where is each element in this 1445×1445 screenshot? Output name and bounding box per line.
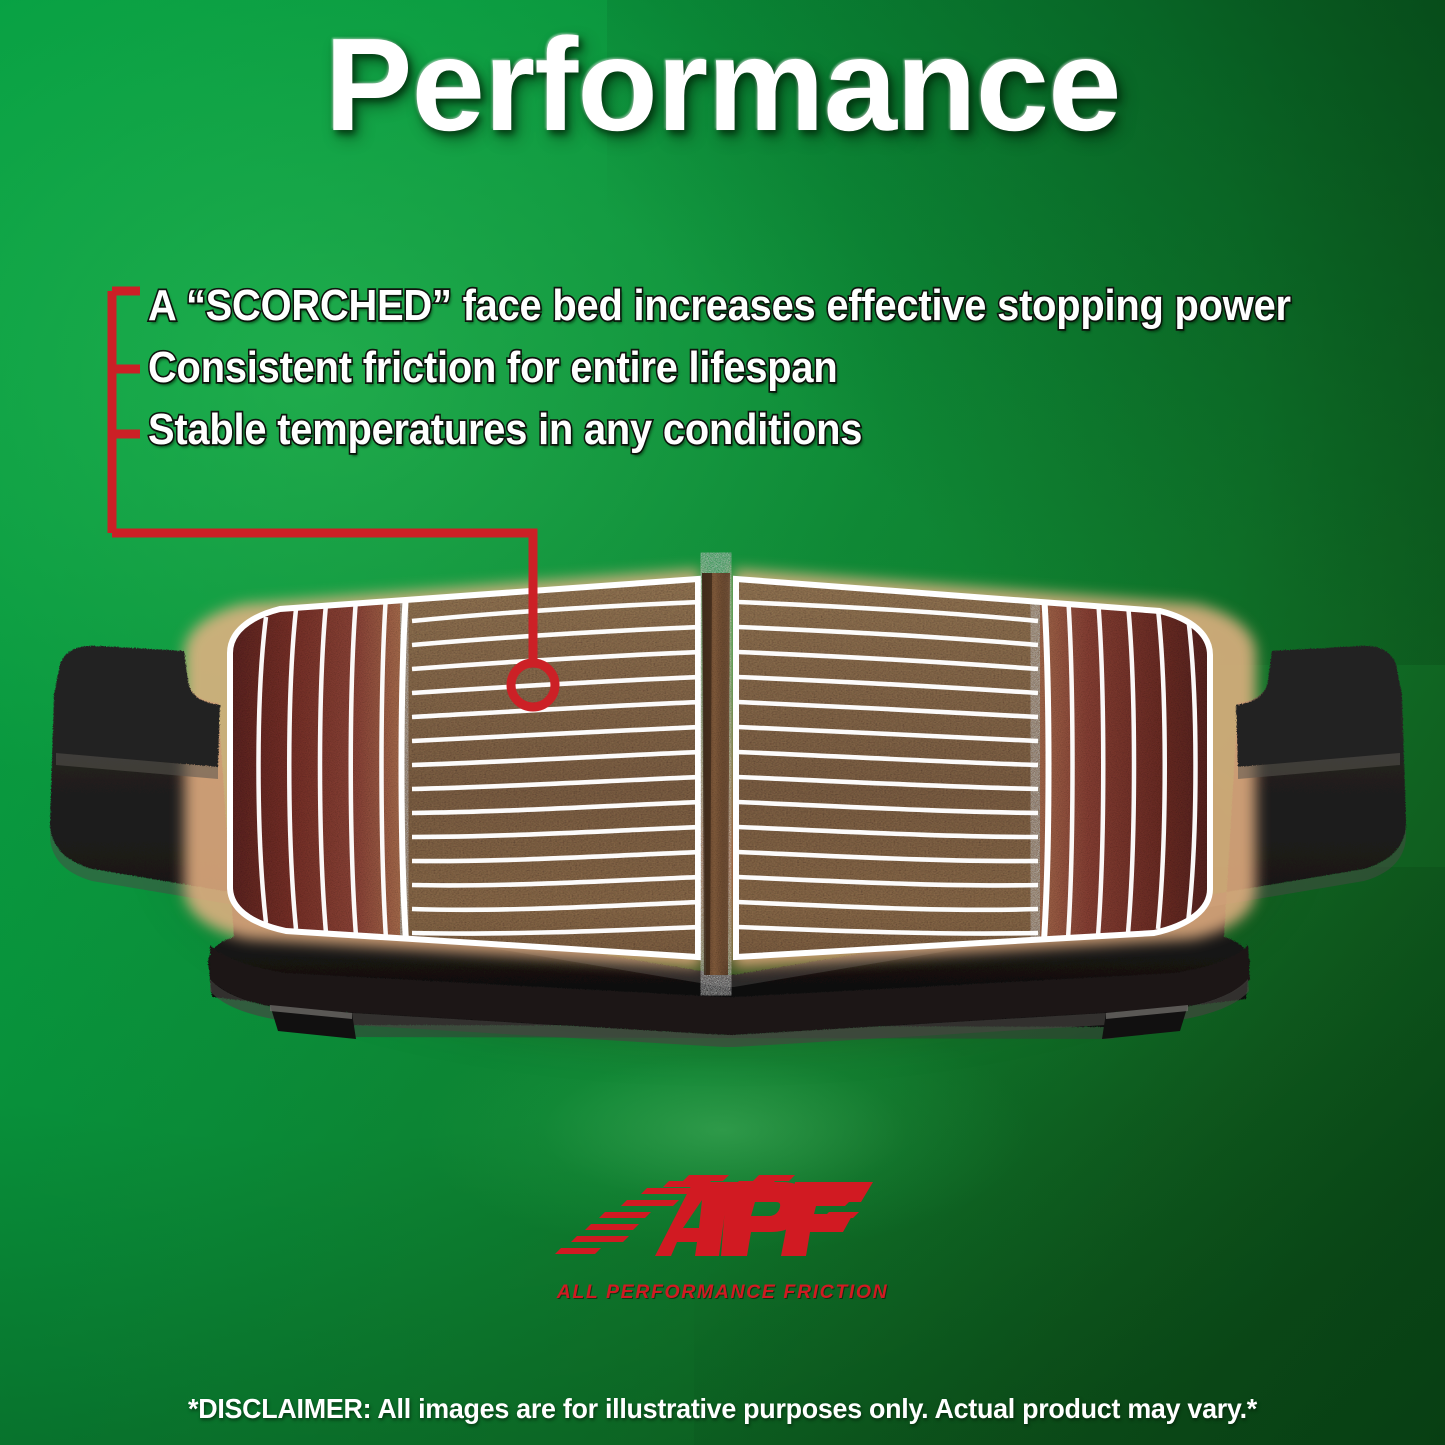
right-pad-friction-block	[724, 555, 1264, 985]
logo-tagline: ALL PERFORMANCE FRICTION	[0, 1281, 1445, 1304]
brand-logo: ALL PERFORMANCE FRICTION	[0, 1172, 1445, 1304]
center-slot	[702, 573, 730, 975]
brake-pad-illustration	[34, 505, 1419, 1075]
feature-item-2: Consistent friction for entire lifespan	[148, 338, 1328, 400]
apf-logo-mark	[543, 1172, 903, 1272]
product-marketing-image: Performance	[0, 0, 1445, 1445]
product-image-brake-pad	[34, 505, 1419, 1075]
logo-letter-f	[781, 1182, 873, 1256]
left-pad-friction-block	[184, 555, 724, 985]
disclaimer-text: *DISCLAIMER: All images are for illustra…	[29, 1393, 1416, 1425]
feature-list: A “SCORCHED” face bed increases effectiv…	[148, 276, 1438, 462]
page-title: Performance	[0, 18, 1445, 153]
apf-logo-icon	[543, 1172, 903, 1272]
feature-item-1: A “SCORCHED” face bed increases effectiv…	[148, 276, 1328, 338]
feature-item-3: Stable temperatures in any conditions	[148, 400, 1328, 462]
